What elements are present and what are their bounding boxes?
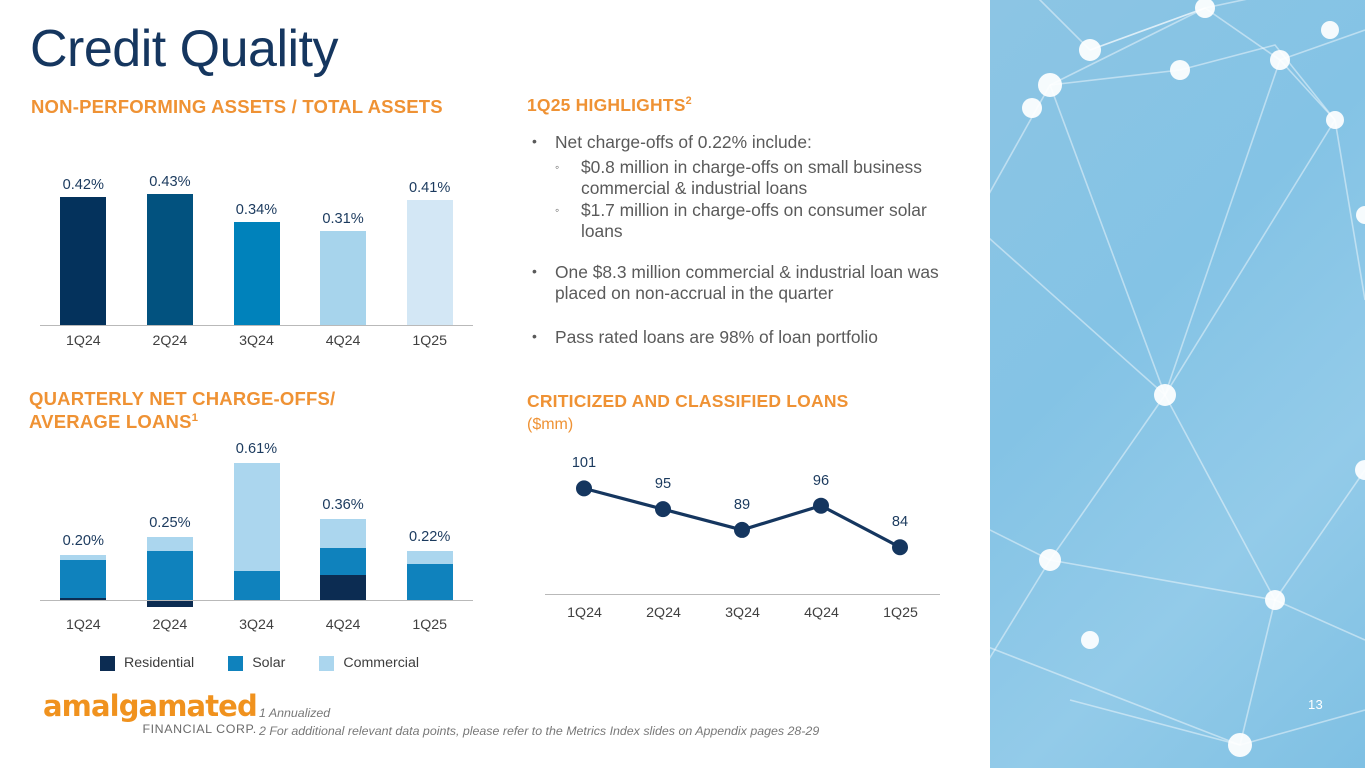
highlight-bullet-1: •Net charge-offs of 0.22% include:: [527, 132, 972, 154]
highlight-bullet-5: •Pass rated loans are 98% of loan portfo…: [527, 327, 972, 349]
npa-bar-chart: 0.42%0.43%0.34%0.31%0.41% 1Q242Q243Q244Q…: [40, 165, 480, 365]
bullet-marker-icon: •: [527, 262, 555, 305]
npa-bar-2q24: [147, 194, 193, 325]
bullet-text: $0.8 million in charge-offs on small bus…: [581, 157, 972, 200]
criticized-x-label-1q25: 1Q25: [861, 605, 940, 621]
nco-heading-line2: AVERAGE LOANS: [29, 411, 192, 432]
npa-bar-1q24: [60, 197, 106, 325]
logo-wordmark: amalgamated: [43, 692, 257, 721]
criticized-point-3q24: [734, 522, 750, 538]
nco-value-label-3q24: 0.61%: [213, 441, 300, 457]
nco-seg-commercial-1q24: [60, 555, 106, 559]
npa-section-heading: NON-PERFORMING ASSETS / TOTAL ASSETS: [31, 96, 443, 118]
highlight-bullet-4: •One $8.3 million commercial & industria…: [527, 262, 972, 305]
bullet-marker-icon: •: [527, 132, 555, 154]
x-label-4q24: 4Q24: [300, 333, 387, 349]
criticized-x-label-4q24: 4Q24: [782, 605, 861, 621]
criticized-axis: [545, 594, 940, 595]
criticized-value-label-4q24: 96: [801, 473, 841, 489]
criticized-value-label-1q24: 101: [564, 455, 604, 471]
highlights-heading-text: 1Q25 HIGHLIGHTS: [527, 95, 686, 115]
legend-swatch-commercial: [319, 656, 334, 671]
npa-plot-area: 0.42%0.43%0.34%0.31%0.41%: [40, 165, 480, 325]
nco-section-heading: QUARTERLY NET CHARGE-OFFS/ AVERAGE LOANS…: [29, 388, 335, 434]
criticized-point-4q24: [813, 498, 829, 514]
legend-swatch-residential: [100, 656, 115, 671]
bullet-text: Pass rated loans are 98% of loan portfol…: [555, 327, 878, 349]
logo-subtitle: FINANCIAL CORP.: [43, 722, 257, 736]
x-label-4q24: 4Q24: [300, 617, 387, 633]
npa-value-label-3q24: 0.34%: [213, 202, 300, 218]
legend-item-solar: Solar: [228, 655, 285, 671]
nco-seg-solar-1q25: [407, 564, 453, 600]
npa-value-label-4q24: 0.31%: [300, 211, 387, 227]
x-label-3q24: 3Q24: [213, 333, 300, 349]
nco-seg-solar-1q24: [60, 560, 106, 598]
nco-seg-commercial-4q24: [320, 519, 366, 548]
nco-seg-residential-2q24: [147, 600, 193, 607]
page-title: Credit Quality: [30, 19, 338, 79]
criticized-heading: CRITICIZED AND CLASSIFIED LOANS: [527, 391, 849, 412]
highlight-bullet-3: ◦$1.7 million in charge-offs on consumer…: [555, 200, 972, 243]
criticized-value-label-1q25: 84: [880, 514, 920, 530]
nco-seg-solar-3q24: [234, 571, 280, 600]
nco-seg-commercial-3q24: [234, 463, 280, 571]
nco-x-labels: 1Q242Q243Q244Q241Q25: [40, 617, 473, 633]
criticized-point-1q24: [576, 480, 592, 496]
highlights-footnote-marker: 2: [686, 95, 692, 107]
nco-seg-solar-2q24: [147, 551, 193, 600]
bullet-marker-icon: ◦: [555, 200, 581, 243]
criticized-x-labels: 1Q242Q243Q244Q241Q25: [545, 605, 940, 621]
x-label-2q24: 2Q24: [127, 617, 214, 633]
footnotes: 1 Annualized 2 For additional relevant d…: [259, 705, 819, 740]
nco-seg-commercial-1q25: [407, 551, 453, 564]
highlights-list: •Net charge-offs of 0.22% include:◦$0.8 …: [527, 132, 972, 352]
nco-stacked-bar-chart: 0.20%0.25%0.61%0.36%0.22% 1Q242Q243Q244Q…: [40, 440, 480, 650]
decorative-network-panel: 13: [990, 0, 1365, 768]
x-label-3q24: 3Q24: [213, 617, 300, 633]
nco-seg-commercial-2q24: [147, 537, 193, 550]
criticized-point-2q24: [655, 501, 671, 517]
company-logo: amalgamated FINANCIAL CORP.: [43, 692, 257, 736]
nco-legend: ResidentialSolarCommercial: [100, 655, 419, 671]
bullet-marker-icon: •: [527, 327, 555, 349]
legend-label-commercial: Commercial: [343, 655, 419, 671]
bullet-text: $1.7 million in charge-offs on consumer …: [581, 200, 972, 243]
legend-label-residential: Residential: [124, 655, 194, 671]
npa-value-label-1q25: 0.41%: [386, 180, 473, 196]
x-label-1q24: 1Q24: [40, 333, 127, 349]
legend-swatch-solar: [228, 656, 243, 671]
footnote-2: 2 For additional relevant data points, p…: [259, 723, 819, 741]
bullet-text: One $8.3 million commercial & industrial…: [555, 262, 972, 305]
nco-plot-area: 0.20%0.25%0.61%0.36%0.22%: [40, 440, 480, 600]
criticized-x-label-1q24: 1Q24: [545, 605, 624, 621]
bullet-spacer: [527, 243, 972, 262]
nco-value-label-1q25: 0.22%: [386, 529, 473, 545]
bullet-text: Net charge-offs of 0.22% include:: [555, 132, 812, 154]
criticized-x-label-2q24: 2Q24: [624, 605, 703, 621]
criticized-point-1q25: [892, 539, 908, 555]
nco-value-label-4q24: 0.36%: [300, 497, 387, 513]
npa-axis: [40, 325, 473, 326]
x-label-1q25: 1Q25: [386, 617, 473, 633]
npa-bar-3q24: [234, 222, 280, 325]
x-label-1q25: 1Q25: [386, 333, 473, 349]
criticized-line-chart: 1Q242Q243Q244Q241Q25 10195899684: [540, 450, 950, 625]
criticized-subheading: ($mm): [527, 416, 573, 434]
nco-value-label-1q24: 0.20%: [40, 533, 127, 549]
criticized-value-label-3q24: 89: [722, 497, 762, 513]
criticized-x-label-3q24: 3Q24: [703, 605, 782, 621]
slide: 13 Credit Quality NON-PERFORMING ASSETS …: [0, 0, 1365, 768]
npa-value-label-2q24: 0.43%: [127, 174, 214, 190]
x-label-1q24: 1Q24: [40, 617, 127, 633]
legend-item-commercial: Commercial: [319, 655, 419, 671]
nco-heading-line1: QUARTERLY NET CHARGE-OFFS/: [29, 388, 335, 409]
npa-x-labels: 1Q242Q243Q244Q241Q25: [40, 333, 473, 349]
x-label-2q24: 2Q24: [127, 333, 214, 349]
npa-bar-1q25: [407, 200, 453, 325]
bullet-spacer: [527, 308, 972, 327]
criticized-value-label-2q24: 95: [643, 476, 683, 492]
nco-value-label-2q24: 0.25%: [127, 515, 214, 531]
legend-label-solar: Solar: [252, 655, 285, 671]
legend-item-residential: Residential: [100, 655, 194, 671]
highlights-heading: 1Q25 HIGHLIGHTS2: [527, 95, 692, 116]
page-number: 13: [1308, 697, 1323, 712]
nco-axis: [40, 600, 473, 601]
nco-footnote-marker: 1: [192, 412, 199, 424]
bullet-marker-icon: ◦: [555, 157, 581, 200]
footnote-1: 1 Annualized: [259, 705, 819, 723]
npa-value-label-1q24: 0.42%: [40, 177, 127, 193]
nco-seg-residential-4q24: [320, 575, 366, 600]
network-graphic: [990, 0, 1365, 768]
nco-seg-solar-4q24: [320, 548, 366, 575]
highlight-bullet-2: ◦$0.8 million in charge-offs on small bu…: [555, 157, 972, 200]
npa-bar-4q24: [320, 231, 366, 325]
